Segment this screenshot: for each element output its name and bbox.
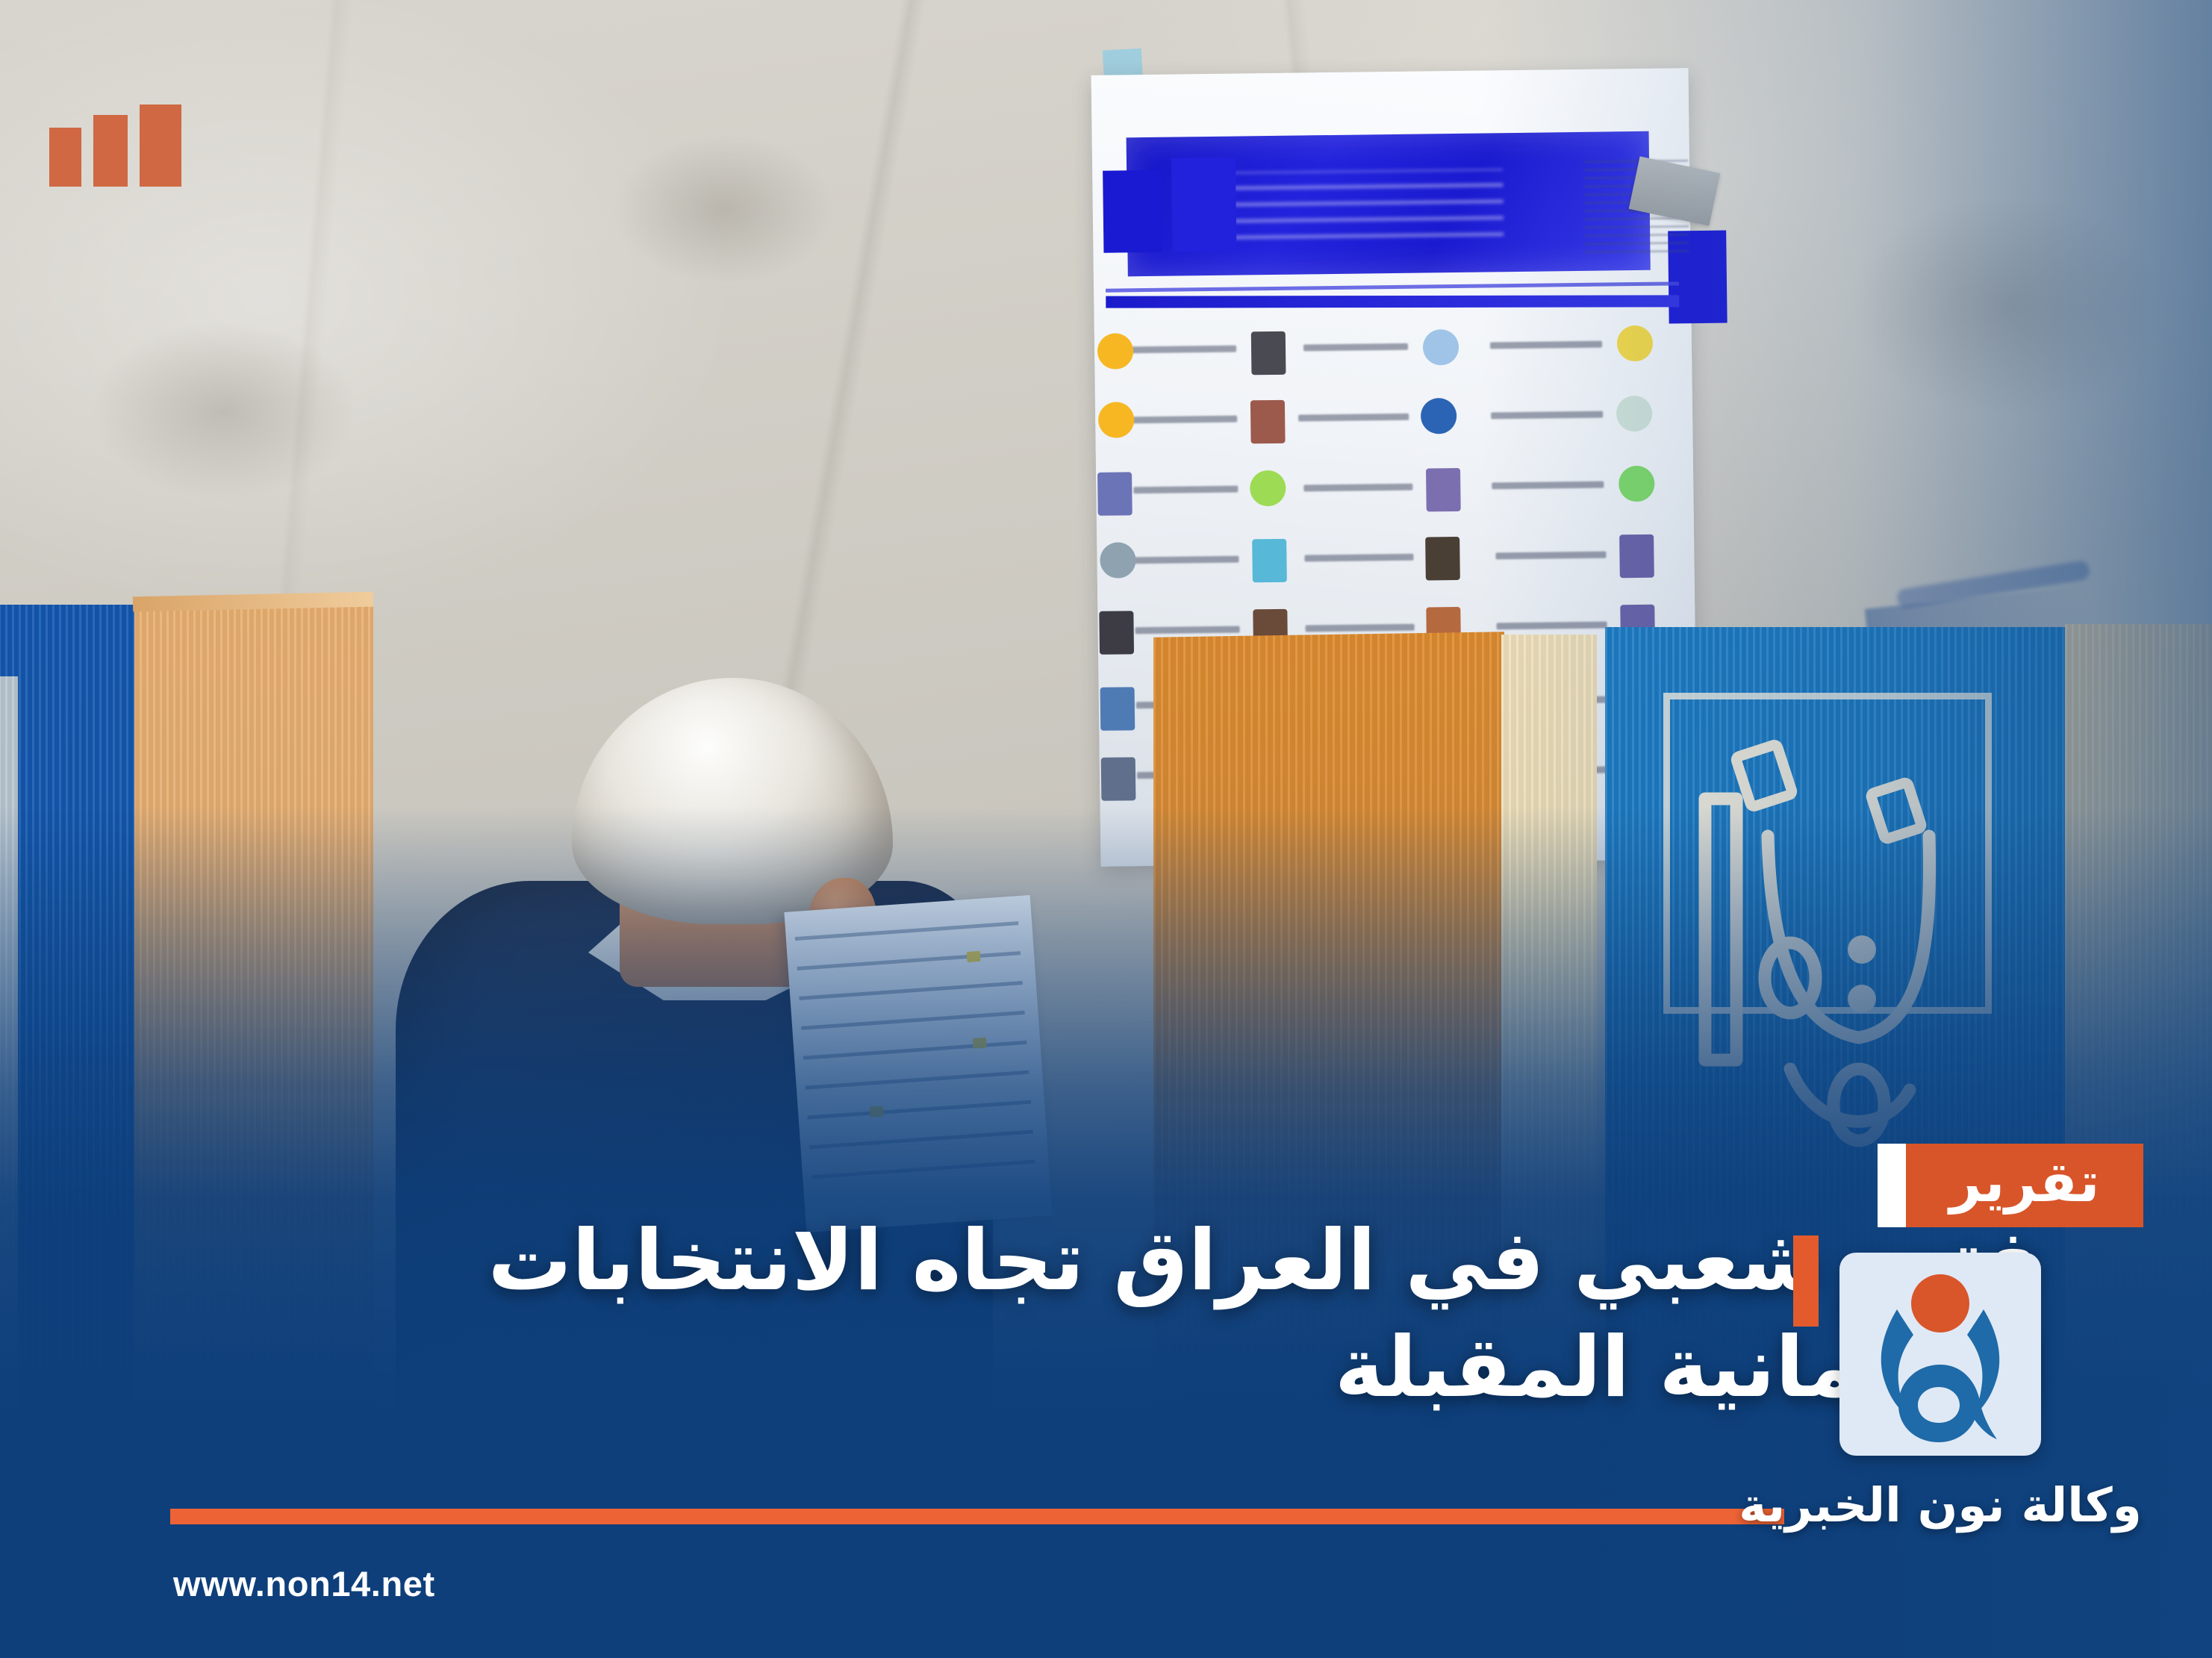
badge-white-tick (1878, 1144, 1906, 1227)
separator-line (170, 1509, 1784, 1524)
watermark-three-bars-icon (49, 105, 181, 187)
news-card: المفوضية العليا المستقلة للانتخابات فتور… (0, 0, 2212, 1658)
status-badge: تقرير (1906, 1144, 2143, 1227)
brand-name: وكالة نون الخبرية (1739, 1480, 2142, 1531)
wall-smudge (612, 134, 836, 284)
brand-column: تقرير وكالة نون الخبرية (1731, 1144, 2149, 1531)
website-url[interactable]: www.non14.net (173, 1563, 435, 1604)
report-badge: تقرير (1878, 1144, 2143, 1227)
noon-person-logo-icon (1839, 1253, 2041, 1456)
poster-chip (1171, 158, 1237, 252)
wall-smudge (90, 321, 358, 500)
poster-chip (1103, 170, 1162, 253)
